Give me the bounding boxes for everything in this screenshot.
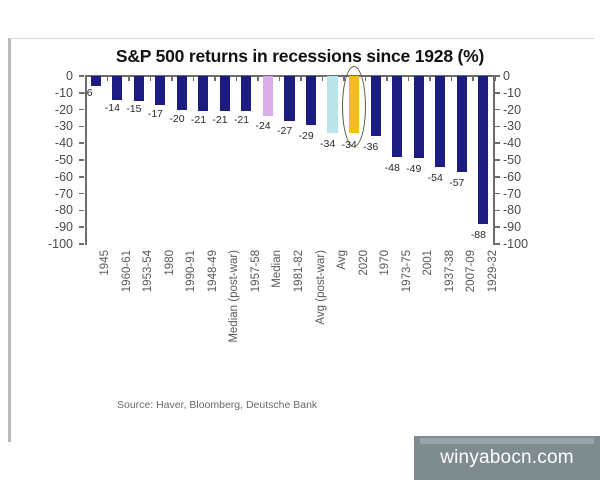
- y-tick-right: [495, 109, 500, 111]
- y-tick-label-right: -50: [503, 154, 521, 167]
- y-tick-label-left: -90: [55, 221, 73, 234]
- bar-value-label: -27: [277, 126, 292, 137]
- bar-value-label: -34: [342, 140, 357, 151]
- x-axis-category-label: Median: [272, 250, 284, 288]
- y-tick-right: [495, 210, 500, 212]
- bar: [198, 76, 208, 111]
- x-tick: [494, 76, 496, 81]
- plot-area: [85, 76, 494, 244]
- x-axis-category-label: 1948-49: [208, 250, 220, 292]
- y-tick-label-right: -60: [503, 171, 521, 184]
- x-axis-category-label: 1929-32: [488, 250, 500, 292]
- y-tick-label-right: -100: [503, 238, 528, 251]
- bar-value-label: -57: [449, 178, 464, 189]
- y-tick-right: [495, 176, 500, 178]
- bar: [112, 76, 122, 100]
- y-tick-label-left: -100: [48, 238, 73, 251]
- bar: [306, 76, 316, 125]
- x-axis-category-label: 1973-75: [402, 250, 414, 292]
- bar: [91, 76, 101, 86]
- bar-value-label: -29: [299, 131, 314, 142]
- bar-value-label: -15: [126, 104, 141, 115]
- bar: [435, 76, 445, 167]
- y-tick-left: [79, 243, 84, 245]
- y-tick-left: [79, 193, 84, 195]
- x-axis-category-label: 1981-82: [294, 250, 306, 292]
- bar: [327, 76, 337, 133]
- bar: [457, 76, 467, 172]
- bar-value-label: -6: [83, 88, 92, 99]
- x-axis-category-label: 1970: [380, 250, 392, 276]
- y-tick-right: [495, 142, 500, 144]
- y-tick-label-left: -70: [55, 188, 73, 201]
- y-tick-right: [495, 243, 500, 245]
- bar-value-label: -21: [191, 115, 206, 126]
- x-axis-category-label: 1960-61: [122, 250, 134, 292]
- y-tick-label-right: 0: [503, 70, 510, 83]
- bar-value-label: -14: [105, 103, 120, 114]
- bar: [284, 76, 294, 121]
- y-tick-label-left: -40: [55, 137, 73, 150]
- y-tick-label-left: -50: [55, 154, 73, 167]
- bar: [220, 76, 230, 111]
- y-tick-right: [495, 75, 500, 77]
- x-axis-category-label: 1953-54: [143, 250, 155, 292]
- x-axis-category-label: 2020: [359, 250, 371, 276]
- y-tick-right: [495, 126, 500, 128]
- watermark-highlight-strip: [420, 438, 594, 444]
- y-tick-label-right: -90: [503, 221, 521, 234]
- x-axis-category-label: 1945: [100, 250, 112, 276]
- y-tick-label-left: -10: [55, 87, 73, 100]
- bar-value-label: -20: [169, 114, 184, 125]
- y-tick-left: [79, 142, 84, 144]
- x-axis-category-label: 2001: [423, 250, 435, 276]
- bar: [392, 76, 402, 157]
- x-axis-category-label: 1937-38: [445, 250, 457, 292]
- chart-title: S&P 500 returns in recessions since 1928…: [0, 46, 600, 67]
- y-tick-left: [79, 226, 84, 228]
- bar-value-label: -21: [234, 115, 249, 126]
- bar-value-label: -34: [320, 139, 335, 150]
- y-tick-left: [79, 210, 84, 212]
- y-tick-label-right: -40: [503, 137, 521, 150]
- bar-value-label: -88: [471, 230, 486, 241]
- y-tick-label-left: 0: [66, 70, 73, 83]
- y-tick-left: [79, 159, 84, 161]
- y-tick-label-right: -70: [503, 188, 521, 201]
- screenshot-root: S&P 500 returns in recessions since 1928…: [0, 0, 600, 480]
- y-tick-left: [79, 176, 84, 178]
- bar-value-label: -49: [406, 164, 421, 175]
- x-axis-category-label: Median (post-war): [229, 250, 241, 343]
- bar-value-label: -36: [363, 142, 378, 153]
- bar-value-label: -24: [255, 121, 270, 132]
- y-tick-label-left: -20: [55, 104, 73, 117]
- x-axis-category-label: 2007-09: [466, 250, 478, 292]
- x-axis-category-label: Avg (post-war): [316, 250, 328, 325]
- bar: [155, 76, 165, 105]
- y-tick-label-right: -80: [503, 204, 521, 217]
- watermark-badge: winyabocn.com: [414, 436, 600, 480]
- y-tick-label-left: -30: [55, 120, 73, 133]
- bar: [241, 76, 251, 111]
- x-axis-category-label: Avg: [337, 250, 349, 270]
- bar: [371, 76, 381, 136]
- x-axis-category-label: 1980: [165, 250, 177, 276]
- y-tick-right: [495, 159, 500, 161]
- y-tick-label-left: -80: [55, 204, 73, 217]
- bar: [349, 76, 359, 133]
- bar: [414, 76, 424, 158]
- x-axis-category-label: 1990-91: [186, 250, 198, 292]
- bar-value-label: -17: [148, 109, 163, 120]
- bar: [478, 76, 488, 224]
- y-tick-right: [495, 92, 500, 94]
- y-tick-label-right: -30: [503, 120, 521, 133]
- source-note: Source: Haver, Bloomberg, Deutsche Bank: [117, 399, 317, 411]
- x-axis-category-label: 1957-58: [251, 250, 263, 292]
- bar: [263, 76, 273, 116]
- y-tick-left: [79, 75, 84, 77]
- y-tick-left: [79, 109, 84, 111]
- y-tick-label-left: -60: [55, 171, 73, 184]
- bar: [177, 76, 187, 110]
- y-tick-right: [495, 193, 500, 195]
- bar-value-label: -21: [212, 115, 227, 126]
- y-tick-label-right: -10: [503, 87, 521, 100]
- y-tick-left: [79, 126, 84, 128]
- bar: [134, 76, 144, 101]
- watermark-text: winyabocn.com: [440, 447, 574, 469]
- y-tick-label-right: -20: [503, 104, 521, 117]
- y-tick-right: [495, 226, 500, 228]
- bar-value-label: -54: [428, 173, 443, 184]
- bar-value-label: -48: [385, 163, 400, 174]
